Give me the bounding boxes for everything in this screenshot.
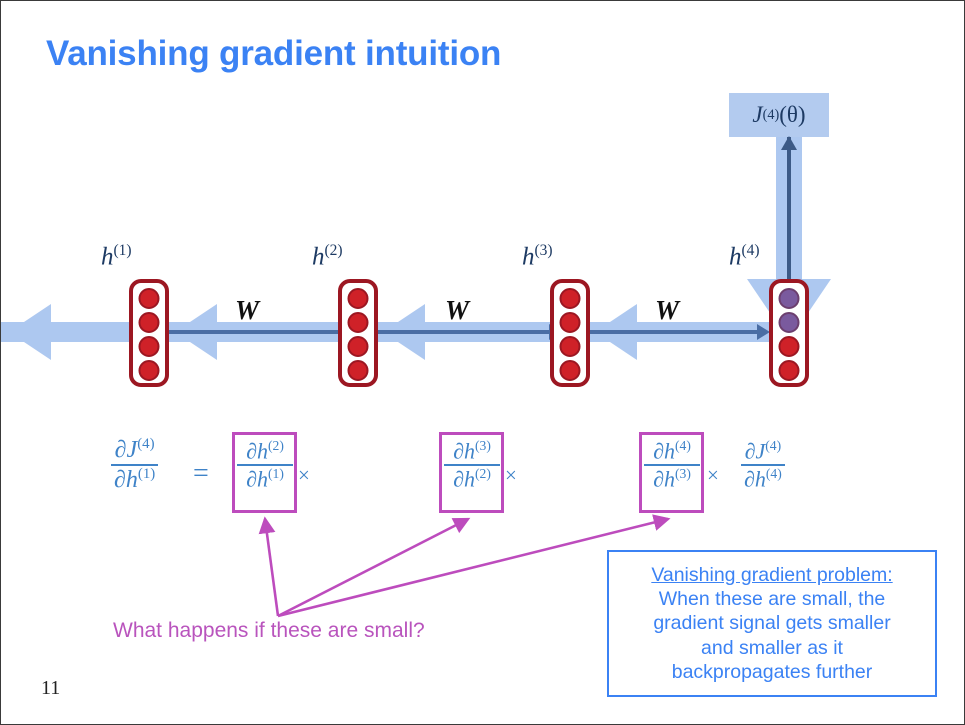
term4-denominator: ∂h(4) xyxy=(741,464,785,492)
t3-den-sym: ∂h xyxy=(653,467,675,492)
unit-dot xyxy=(348,288,369,309)
h-superscript: (3) xyxy=(535,242,553,259)
hidden-state-label-4: h(4) xyxy=(729,242,760,271)
equation-lhs: ∂J(4) ∂h(1) xyxy=(111,436,158,494)
page-number: 11 xyxy=(41,677,60,700)
t2-den-sym: ∂h xyxy=(453,467,475,492)
h-superscript: (2) xyxy=(325,242,343,259)
h-symbol: h xyxy=(312,243,325,270)
term2-denominator: ∂h(2) xyxy=(444,464,500,492)
t2-den-sup: (2) xyxy=(475,466,491,481)
t2-num-sym: ∂h xyxy=(453,438,475,463)
lhs-denominator: ∂h(1) xyxy=(111,464,158,494)
unit-dot xyxy=(560,360,581,381)
forward-line-1 xyxy=(169,330,347,334)
forward-line-3 xyxy=(587,330,759,334)
annotation-question: What happens if these are small? xyxy=(113,619,425,643)
equals-sign: = xyxy=(193,458,209,490)
t1-den-sym: ∂h xyxy=(246,467,268,492)
backprop-arrowhead-0-icon xyxy=(9,304,51,360)
lhs-numerator: ∂J(4) xyxy=(111,436,158,464)
times-sign-1: × xyxy=(298,463,310,488)
t4-num-sym: ∂J xyxy=(745,438,766,463)
times-sign-3: × xyxy=(707,463,719,488)
hidden-state-column-2[interactable] xyxy=(338,279,378,387)
times-sign-2: × xyxy=(505,463,517,488)
unit-dot xyxy=(139,360,160,381)
unit-dot xyxy=(779,312,800,333)
unit-dot xyxy=(139,312,160,333)
unit-dot xyxy=(348,312,369,333)
t1-num-sym: ∂h xyxy=(246,438,268,463)
t1-den-sup: (1) xyxy=(268,466,284,481)
term4-numerator: ∂J(4) xyxy=(741,438,785,464)
term3-numerator: ∂h(4) xyxy=(644,438,700,464)
t4-den-sup: (4) xyxy=(766,466,782,481)
lhs-num-sup: (4) xyxy=(137,436,154,452)
unit-dot xyxy=(779,288,800,309)
callout-line: and smaller as it xyxy=(701,636,843,660)
hidden-state-label-2: h(2) xyxy=(312,242,343,271)
forward-line-2 xyxy=(377,330,551,334)
hidden-state-column-1[interactable] xyxy=(129,279,169,387)
hidden-state-label-1: h(1) xyxy=(101,242,132,271)
unit-dot xyxy=(779,360,800,381)
term2-numerator: ∂h(3) xyxy=(444,438,500,464)
lhs-num-sym: ∂J xyxy=(115,437,138,463)
term3-denominator: ∂h(3) xyxy=(644,464,700,492)
lhs-den-sym: ∂h xyxy=(114,467,138,493)
t4-den-sym: ∂h xyxy=(744,467,766,492)
unit-dot xyxy=(779,336,800,357)
callout-line: backpropagates further xyxy=(672,660,873,684)
weight-label-1: W xyxy=(445,295,469,326)
t4-num-sup: (4) xyxy=(765,438,781,453)
unit-dot xyxy=(560,312,581,333)
unit-dot xyxy=(560,336,581,357)
term-4: ∂J(4) ∂h(4) xyxy=(741,438,785,493)
t3-den-sup: (3) xyxy=(675,466,691,481)
h-symbol: h xyxy=(522,243,535,270)
t3-num-sup: (4) xyxy=(675,438,691,453)
callout-line: When these are small, the xyxy=(659,587,886,611)
unit-dot xyxy=(560,288,581,309)
hidden-state-column-3[interactable] xyxy=(550,279,590,387)
boxed-term-3: ∂h(4) ∂h(3) xyxy=(644,438,700,493)
unit-dot xyxy=(139,288,160,309)
term1-denominator: ∂h(1) xyxy=(237,464,293,492)
h-superscript: (1) xyxy=(114,242,132,259)
lhs-den-sup: (1) xyxy=(138,466,155,482)
vanishing-gradient-callout: Vanishing gradient problem: When these a… xyxy=(607,550,937,697)
unit-dot xyxy=(139,336,160,357)
slide-canvas: Vanishing gradient intuition J(4)(θ) W W… xyxy=(0,0,965,725)
term1-numerator: ∂h(2) xyxy=(237,438,293,464)
t2-num-sup: (3) xyxy=(475,438,491,453)
unit-dot xyxy=(348,360,369,381)
weight-label-0: W xyxy=(235,295,259,326)
h-symbol: h xyxy=(729,243,742,270)
hidden-state-column-4[interactable] xyxy=(769,279,809,387)
boxed-term-1: ∂h(2) ∂h(1) xyxy=(237,438,293,493)
callout-line: gradient signal gets smaller xyxy=(653,611,890,635)
boxed-term-2: ∂h(3) ∂h(2) xyxy=(444,438,500,493)
hidden-state-label-3: h(3) xyxy=(522,242,553,271)
weight-label-2: W xyxy=(655,295,679,326)
t3-num-sym: ∂h xyxy=(653,438,675,463)
callout-heading: Vanishing gradient problem: xyxy=(651,563,892,587)
h-superscript: (4) xyxy=(742,242,760,259)
t1-num-sup: (2) xyxy=(268,438,284,453)
h-symbol: h xyxy=(101,243,114,270)
unit-dot xyxy=(348,336,369,357)
